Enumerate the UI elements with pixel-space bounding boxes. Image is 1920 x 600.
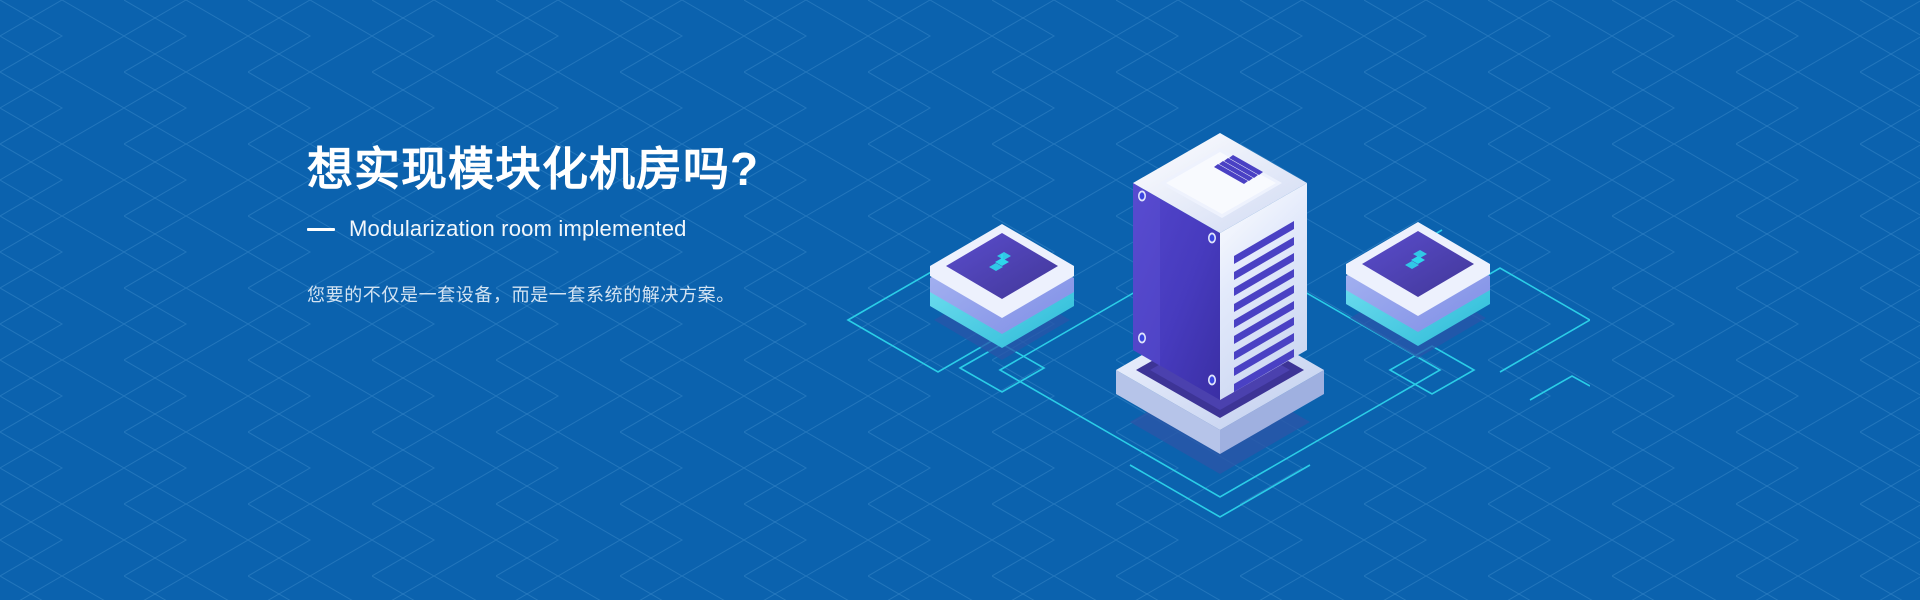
- server-tower: [1116, 133, 1324, 474]
- hero-banner: 想实现模块化机房吗? Modularization room implement…: [0, 0, 1920, 600]
- chip-module-right: [1346, 222, 1490, 358]
- hero-subtitle: Modularization room implemented: [349, 216, 687, 242]
- isometric-modular-server-room-illustration: [830, 70, 1590, 530]
- dash-divider-icon: [307, 228, 335, 231]
